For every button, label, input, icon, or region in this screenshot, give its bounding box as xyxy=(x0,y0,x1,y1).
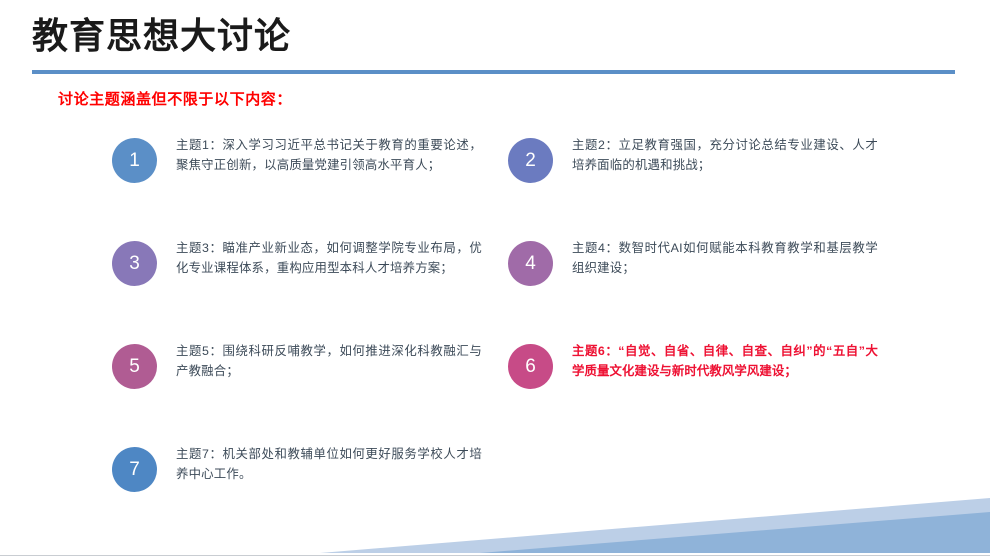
topic-item-4[interactable]: 4 主题4：数智时代AI如何赋能本科教育教学和基层教学组织建设； xyxy=(508,229,928,329)
bottom-rule xyxy=(0,555,990,556)
topic-number-badge-3: 3 xyxy=(112,241,157,286)
topic-list: 1 主题1：深入学习习近平总书记关于教育的重要论述，聚焦守正创新，以高质量党建引… xyxy=(0,126,990,538)
topic-text-4: 主题4：数智时代AI如何赋能本科教育教学和基层教学组织建设； xyxy=(572,238,878,278)
page-title: 教育思想大讨论 xyxy=(32,14,291,58)
topic-text-6: 主题6：“自觉、自省、自律、自查、自纠”的“五自”大学质量文化建设与新时代教风学… xyxy=(572,341,878,381)
topic-text-3: 主题3：瞄准产业新业态，如何调整学院专业布局，优化专业课程体系，重构应用型本科人… xyxy=(176,238,482,278)
topic-item-6[interactable]: 6 主题6：“自觉、自省、自律、自查、自纠”的“五自”大学质量文化建设与新时代教… xyxy=(508,332,928,432)
topic-text-1: 主题1：深入学习习近平总书记关于教育的重要论述，聚焦守正创新，以高质量党建引领高… xyxy=(176,135,482,175)
topic-item-7[interactable]: 7 主题7：机关部处和教辅单位如何更好服务学校人才培养中心工作。 xyxy=(112,435,532,535)
topic-number-badge-1: 1 xyxy=(112,138,157,183)
topic-row: 3 主题3：瞄准产业新业态，如何调整学院专业布局，优化专业课程体系，重构应用型本… xyxy=(0,229,990,332)
topic-item-2[interactable]: 2 主题2：立足教育强国，充分讨论总结专业建设、人才培养面临的机遇和挑战； xyxy=(508,126,928,226)
topic-row: 5 主题5：围绕科研反哺教学，如何推进深化科教融汇与产教融合； 6 主题6：“自… xyxy=(0,332,990,435)
topic-number-badge-6: 6 xyxy=(508,344,553,389)
topic-item-5[interactable]: 5 主题5：围绕科研反哺教学，如何推进深化科教融汇与产教融合； xyxy=(112,332,532,432)
topic-text-2: 主题2：立足教育强国，充分讨论总结专业建设、人才培养面临的机遇和挑战； xyxy=(572,135,878,175)
topic-row: 1 主题1：深入学习习近平总书记关于教育的重要论述，聚焦守正创新，以高质量党建引… xyxy=(0,126,990,229)
topic-text-7: 主题7：机关部处和教辅单位如何更好服务学校人才培养中心工作。 xyxy=(176,444,482,484)
topic-number-badge-7: 7 xyxy=(112,447,157,492)
topic-number-badge-2: 2 xyxy=(508,138,553,183)
topic-number-badge-5: 5 xyxy=(112,344,157,389)
subtitle-text: 讨论主题涵盖但不限于以下内容： xyxy=(58,88,292,109)
title-divider xyxy=(32,70,955,74)
topic-number-badge-4: 4 xyxy=(508,241,553,286)
slide: 教育思想大讨论 讨论主题涵盖但不限于以下内容： 1 主题1：深入学习习近平总书记… xyxy=(0,0,990,558)
topic-text-5: 主题5：围绕科研反哺教学，如何推进深化科教融汇与产教融合； xyxy=(176,341,482,381)
topic-item-1[interactable]: 1 主题1：深入学习习近平总书记关于教育的重要论述，聚焦守正创新，以高质量党建引… xyxy=(112,126,532,226)
topic-item-3[interactable]: 3 主题3：瞄准产业新业态，如何调整学院专业布局，优化专业课程体系，重构应用型本… xyxy=(112,229,532,329)
topic-row: 7 主题7：机关部处和教辅单位如何更好服务学校人才培养中心工作。 xyxy=(0,435,990,538)
